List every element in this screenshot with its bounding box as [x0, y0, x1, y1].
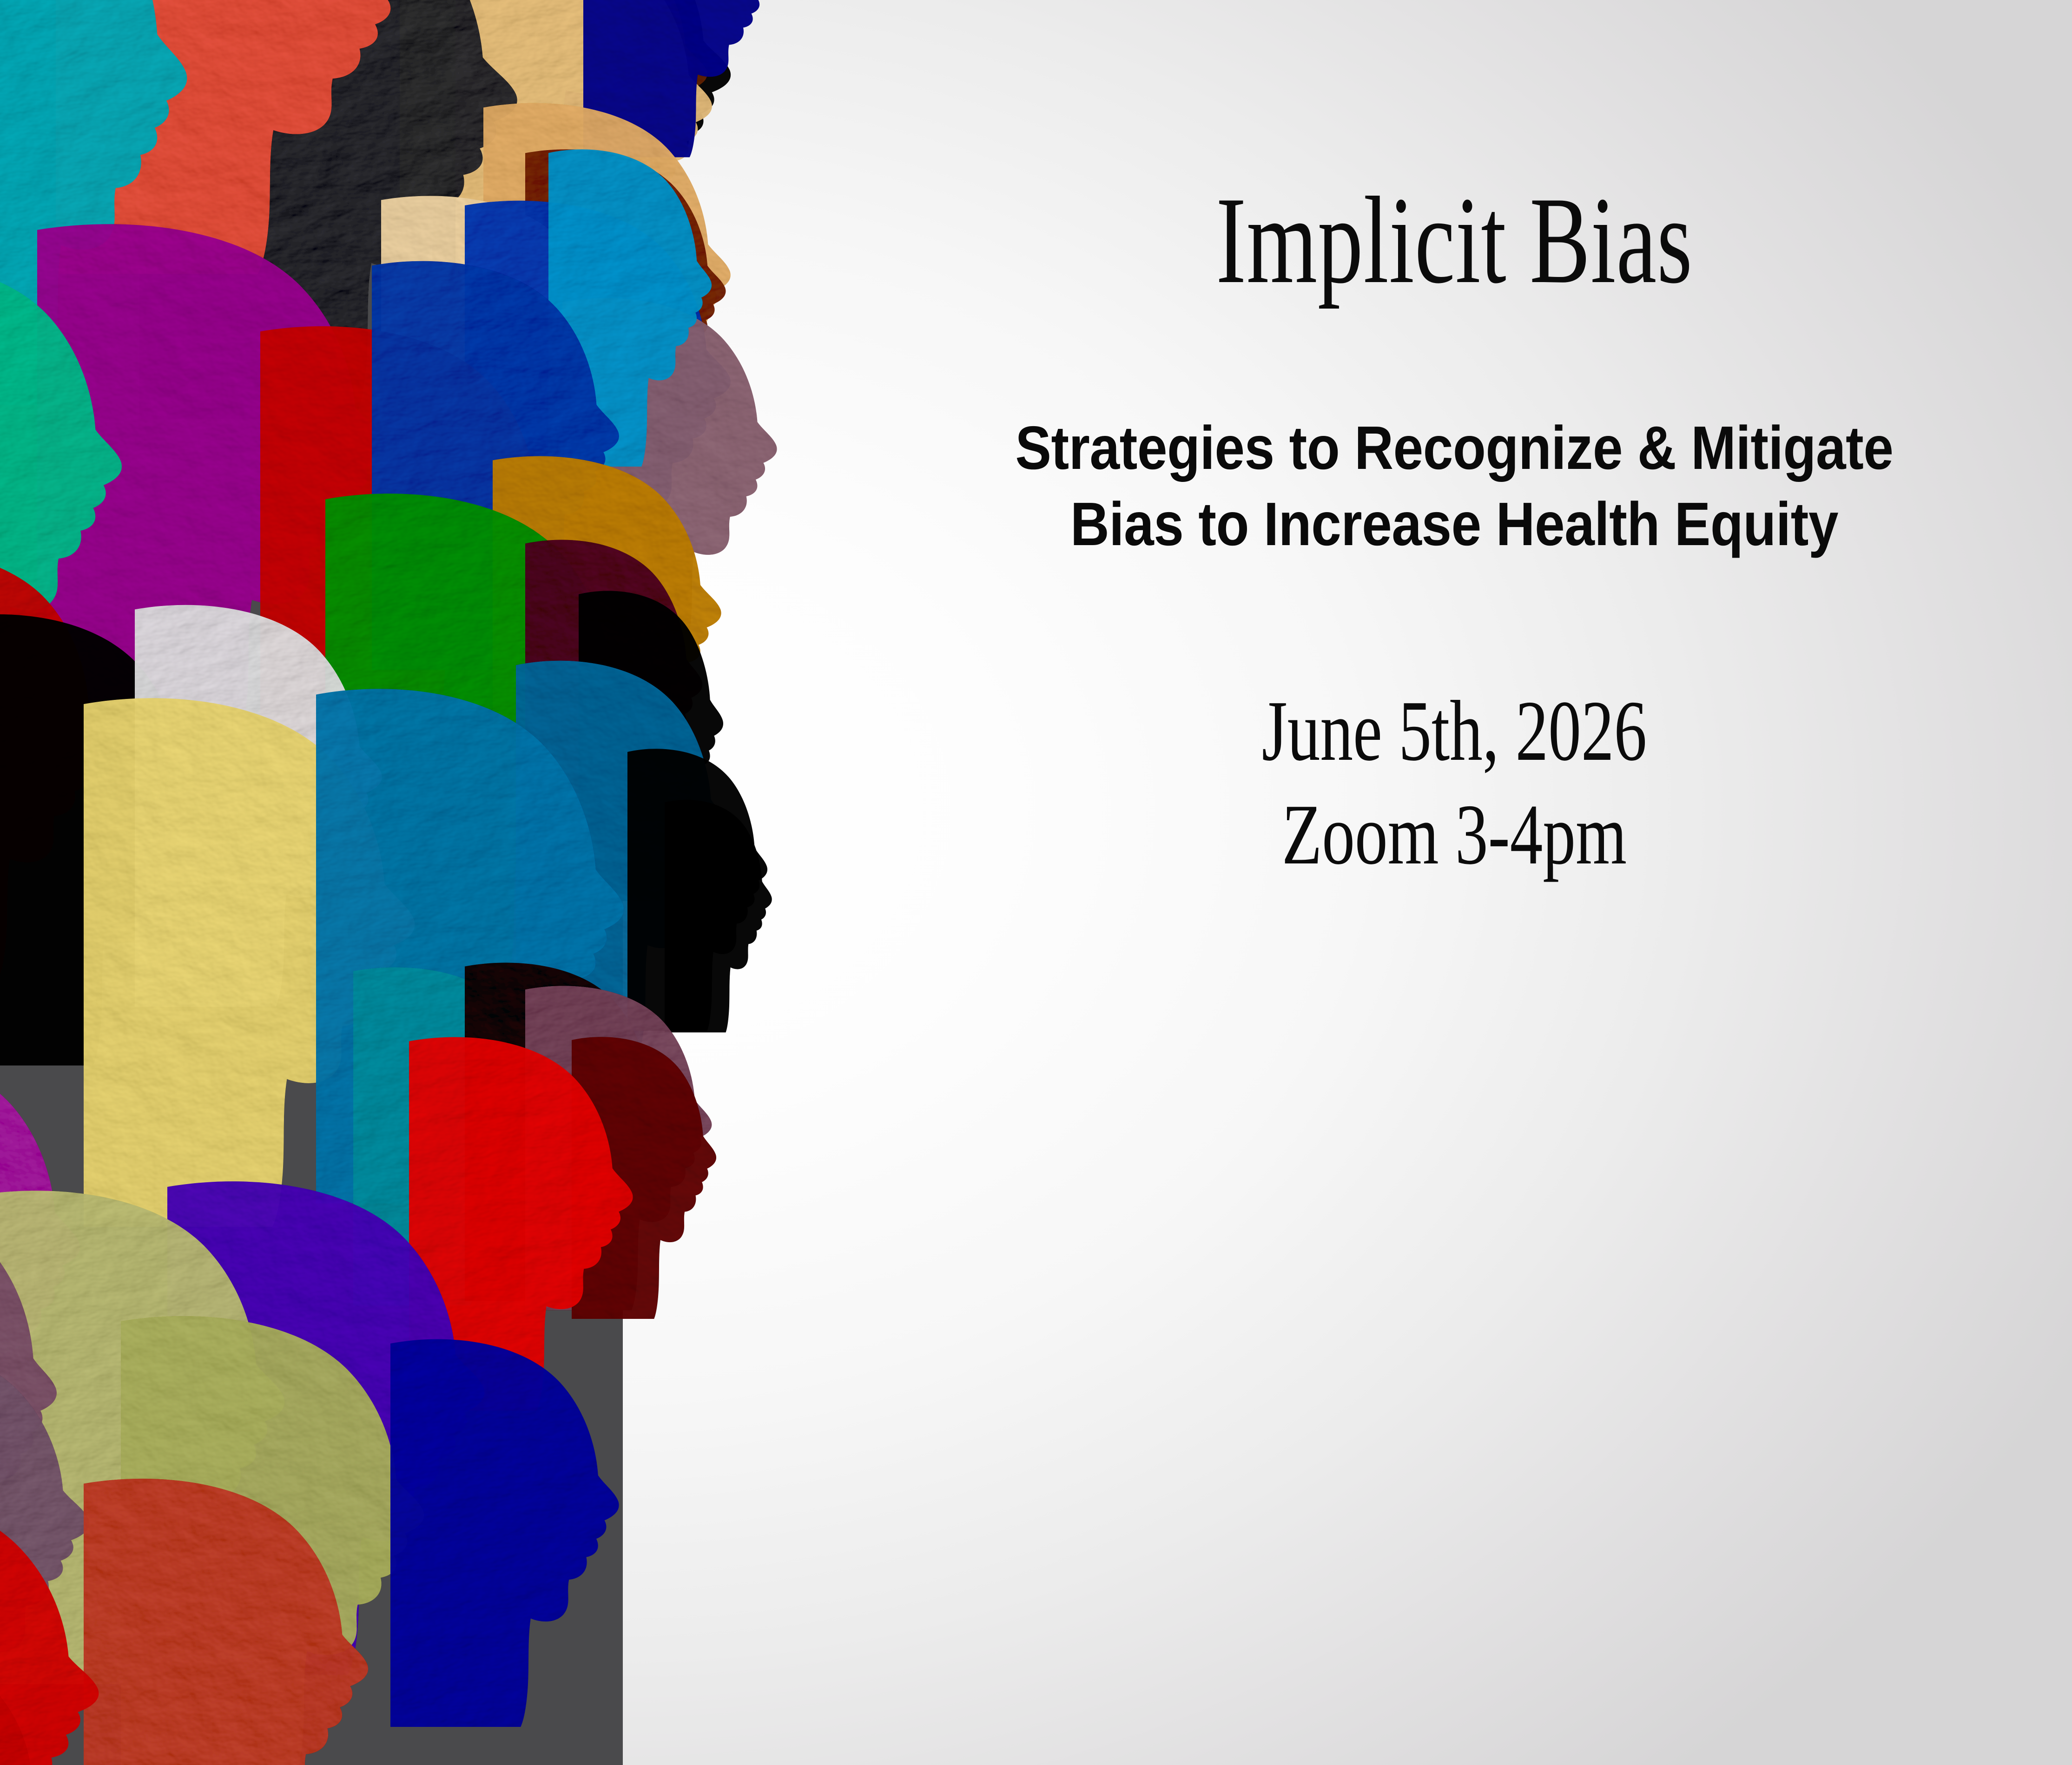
event-details: June 5th, 2026 Zoom 3-4pm [985, 679, 1924, 887]
poster-text-block: Implicit Bias Strategies to Recognize & … [837, 0, 2072, 1765]
subtitle-line-1: Strategies to Recognize & Mitigate [911, 410, 1998, 486]
subtitle-line-2: Bias to Increase Health Equity [911, 486, 1998, 562]
page-title: Implicit Bias [1003, 175, 1905, 305]
poster-subtitle: Strategies to Recognize & Mitigate Bias … [911, 410, 1998, 562]
event-date: June 5th, 2026 [985, 679, 1924, 783]
paper-heads-collage-image [0, 0, 892, 1765]
event-platform-time: Zoom 3-4pm [985, 783, 1924, 887]
poster-canvas: Implicit Bias Strategies to Recognize & … [0, 0, 2072, 1765]
